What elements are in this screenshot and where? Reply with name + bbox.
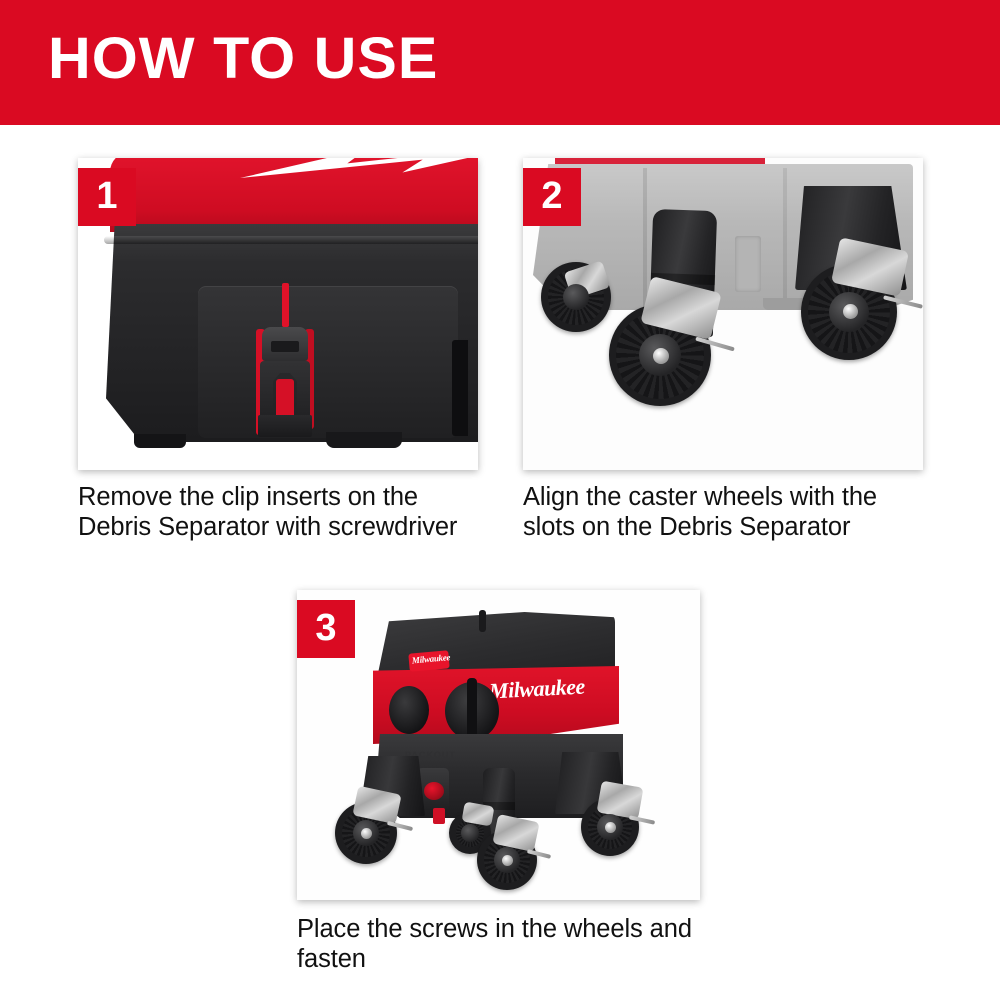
debris-separator-base-illustration [78,158,478,470]
step-2-caption: Align the caster wheels with the slots o… [523,482,923,542]
wheel-axle [605,822,616,833]
page-title: HOW TO USE [48,28,438,90]
step-3-image: Milwaukee Milwaukee PACKOUT [297,590,700,900]
milwaukee-wordmark: Milwaukee [488,674,585,705]
wheel-hub [461,824,479,842]
step-2-number: 2 [523,177,581,215]
step-3: Milwaukee Milwaukee PACKOUT [297,590,700,974]
wheel-axle [843,304,858,319]
red-clip-insert [254,283,316,439]
lightning-bolt-icon [240,158,478,190]
step-1: 1 Remove the clip inserts on the Debris … [78,158,478,542]
step-1-caption: Remove the clip inserts on the Debris Se… [78,482,478,542]
separator-red-lid [110,158,478,232]
red-latch-clip [433,808,445,824]
step-1-image: 1 [78,158,478,470]
wheel-axle [653,348,669,364]
milwaukee-small-wordmark: Milwaukee [411,652,450,665]
inlet-port [389,686,429,734]
step-2-image: 2 [523,158,923,470]
step-2-number-badge: 2 [523,168,581,226]
clip-cap [262,327,308,361]
step-1-number-badge: 1 [78,168,136,226]
assembled-separator-illustration: Milwaukee Milwaukee PACKOUT [297,590,700,900]
caster-alignment-illustration [523,158,923,470]
header-banner: HOW TO USE [0,0,1000,125]
base-foot-left [134,434,186,448]
side-notch [452,340,468,436]
step-3-number-badge: 3 [297,600,355,658]
step-2: 2 Align the caster wheels with the slots… [523,158,923,542]
wheel-axle [361,828,372,839]
outlet-port [445,682,499,740]
top-ridge [479,610,486,632]
clip-stem [282,283,289,327]
wheel-hub [563,284,589,310]
base-foot-right [326,432,402,448]
caster-mount-slot [735,236,761,292]
wheel-axle [502,855,513,866]
body-recess-panel [198,286,458,438]
body-groove-right [783,168,787,308]
step-3-caption: Place the screws in the wheels and faste… [297,914,700,974]
clip-feet [258,415,312,437]
milwaukee-small-badge: Milwaukee [408,650,449,671]
body-groove-left [643,168,647,308]
step-1-number: 1 [78,177,136,215]
step-3-number: 3 [297,609,355,647]
body-seam [104,236,478,244]
